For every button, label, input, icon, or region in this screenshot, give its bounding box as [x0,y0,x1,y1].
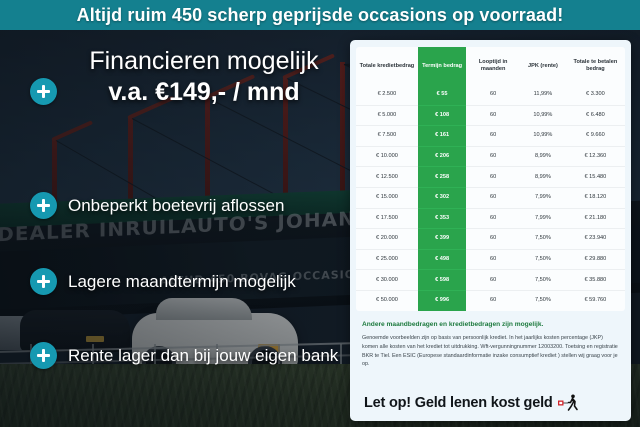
disclaimer-note: Andere maandbedragen en kredietbedragen … [362,321,619,370]
cell-term-amount: € 996 [418,290,466,310]
table-row: € 25.000€ 498607,50%€ 29.880 [356,249,625,270]
cell-term-amount: € 206 [418,146,466,167]
cell-total-payable: € 18.120 [566,187,625,208]
running-man-money-icon [558,394,580,411]
plus-icon [30,342,57,369]
table-header-row: Totale kredietbedrag Termijn bedrag Loop… [356,47,625,85]
cell-jpk: 10,99% [520,105,566,126]
cell-total-credit: € 20.000 [356,229,418,250]
cell-jpk: 7,50% [520,229,566,250]
column-header-term-amount: Termijn bedrag [418,47,466,85]
cell-total-payable: € 29.880 [566,249,625,270]
promo-headline-line2: v.a. €149,- / mnd [60,78,348,108]
table-row: € 20.000€ 399607,50%€ 23.940 [356,229,625,250]
table-row: € 5.000€ 1086010,99%€ 6.480 [356,105,625,126]
cell-total-payable: € 15.480 [566,167,625,188]
bullet-item-lower-monthly-term: Lagere maandtermijn mogelijk [30,268,296,295]
table-row: € 7.500€ 1616010,99%€ 9.660 [356,126,625,147]
table-row: € 12.500€ 258608,99%€ 15.480 [356,167,625,188]
cell-term-amount: € 55 [418,85,466,105]
top-banner: Altijd ruim 450 scherp geprijsde occasio… [0,0,640,30]
bullet-label: Onbeperkt boetevrij aflossen [68,196,284,216]
cell-jpk: 8,99% [520,167,566,188]
cell-total-credit: € 15.000 [356,187,418,208]
cell-total-payable: € 23.940 [566,229,625,250]
plus-icon [30,78,57,105]
disclaimer-body: Genoemde voorbeelden zijn op basis van p… [362,334,619,369]
cell-duration: 60 [466,290,520,310]
bullet-item-lower-interest: Rente lager dan bij jouw eigen bank [30,342,338,369]
cell-total-credit: € 25.000 [356,249,418,270]
cell-jpk: 11,99% [520,85,566,105]
table-row: € 30.000€ 598607,50%€ 35.880 [356,270,625,291]
cell-jpk: 7,50% [520,270,566,291]
cell-jpk: 7,50% [520,290,566,310]
cell-term-amount: € 161 [418,126,466,147]
bullet-label: Rente lager dan bij jouw eigen bank [68,346,338,366]
cell-jpk: 7,99% [520,208,566,229]
table-row: € 50.000€ 996607,50%€ 59.760 [356,290,625,310]
cell-term-amount: € 108 [418,105,466,126]
credit-warning: Let op! Geld lenen kost geld [364,394,621,411]
cell-duration: 60 [466,270,520,291]
financing-table-card: Totale kredietbedrag Termijn bedrag Loop… [350,40,631,421]
cell-total-payable: € 35.880 [566,270,625,291]
cell-jpk: 7,50% [520,249,566,270]
table-row: € 2.500€ 556011,99%€ 3.300 [356,85,625,105]
column-header-total-payable: Totale te betalen bedrag [566,47,625,85]
cell-total-credit: € 30.000 [356,270,418,291]
cell-total-payable: € 59.760 [566,290,625,310]
cell-duration: 60 [466,146,520,167]
bullet-item-financing [30,78,57,105]
cell-total-credit: € 50.000 [356,290,418,310]
table-row: € 17.500€ 353607,99%€ 21.180 [356,208,625,229]
cell-term-amount: € 399 [418,229,466,250]
banner-headline: Altijd ruim 450 scherp geprijsde occasio… [77,5,564,26]
cell-term-amount: € 598 [418,270,466,291]
cell-duration: 60 [466,105,520,126]
column-header-jpk: JPK (rente) [520,47,566,85]
cell-jpk: 8,99% [520,146,566,167]
column-header-duration: Looptijd in maanden [466,47,520,85]
cell-jpk: 10,99% [520,126,566,147]
promo-headline: Financieren mogelijk v.a. €149,- / mnd [60,48,348,108]
cell-total-payable: € 9.660 [566,126,625,147]
plus-icon [30,268,57,295]
column-header-total-credit: Totale kredietbedrag [356,47,418,85]
financing-table-wrapper: Totale kredietbedrag Termijn bedrag Loop… [356,47,625,311]
table-row: € 15.000€ 302607,99%€ 18.120 [356,187,625,208]
financing-table: Totale kredietbedrag Termijn bedrag Loop… [356,47,625,311]
credit-warning-text: Let op! Geld lenen kost geld [364,395,553,411]
cell-total-payable: € 3.300 [566,85,625,105]
cell-total-credit: € 5.000 [356,105,418,126]
table-row: € 10.000€ 206608,99%€ 12.360 [356,146,625,167]
cell-term-amount: € 258 [418,167,466,188]
cell-total-credit: € 10.000 [356,146,418,167]
cell-duration: 60 [466,249,520,270]
promo-headline-line1: Financieren mogelijk [60,48,348,75]
cell-duration: 60 [466,229,520,250]
cell-total-credit: € 17.500 [356,208,418,229]
cell-jpk: 7,99% [520,187,566,208]
cell-duration: 60 [466,187,520,208]
cell-total-credit: € 2.500 [356,85,418,105]
cell-total-payable: € 6.480 [566,105,625,126]
bullet-item-penalty-free-repayment: Onbeperkt boetevrij aflossen [30,192,284,219]
table-body: € 2.500€ 556011,99%€ 3.300€ 5.000€ 10860… [356,85,625,311]
advertisement-banner: DEALER INRUILAUTO'S JOHAN MEURE ALTIJD 4… [0,0,640,427]
cell-duration: 60 [466,167,520,188]
cell-total-credit: € 7.500 [356,126,418,147]
cell-term-amount: € 353 [418,208,466,229]
cell-duration: 60 [466,208,520,229]
cell-total-credit: € 12.500 [356,167,418,188]
table-header: Totale kredietbedrag Termijn bedrag Loop… [356,47,625,85]
promo-column: Financieren mogelijk v.a. €149,- / mnd O… [0,30,348,427]
cell-duration: 60 [466,85,520,105]
plus-icon [30,192,57,219]
cell-duration: 60 [466,126,520,147]
cell-total-payable: € 12.360 [566,146,625,167]
cell-term-amount: € 302 [418,187,466,208]
cell-total-payable: € 21.180 [566,208,625,229]
disclaimer-title: Andere maandbedragen en kredietbedragen … [362,321,619,330]
cell-term-amount: € 498 [418,249,466,270]
bullet-label: Lagere maandtermijn mogelijk [68,272,296,292]
